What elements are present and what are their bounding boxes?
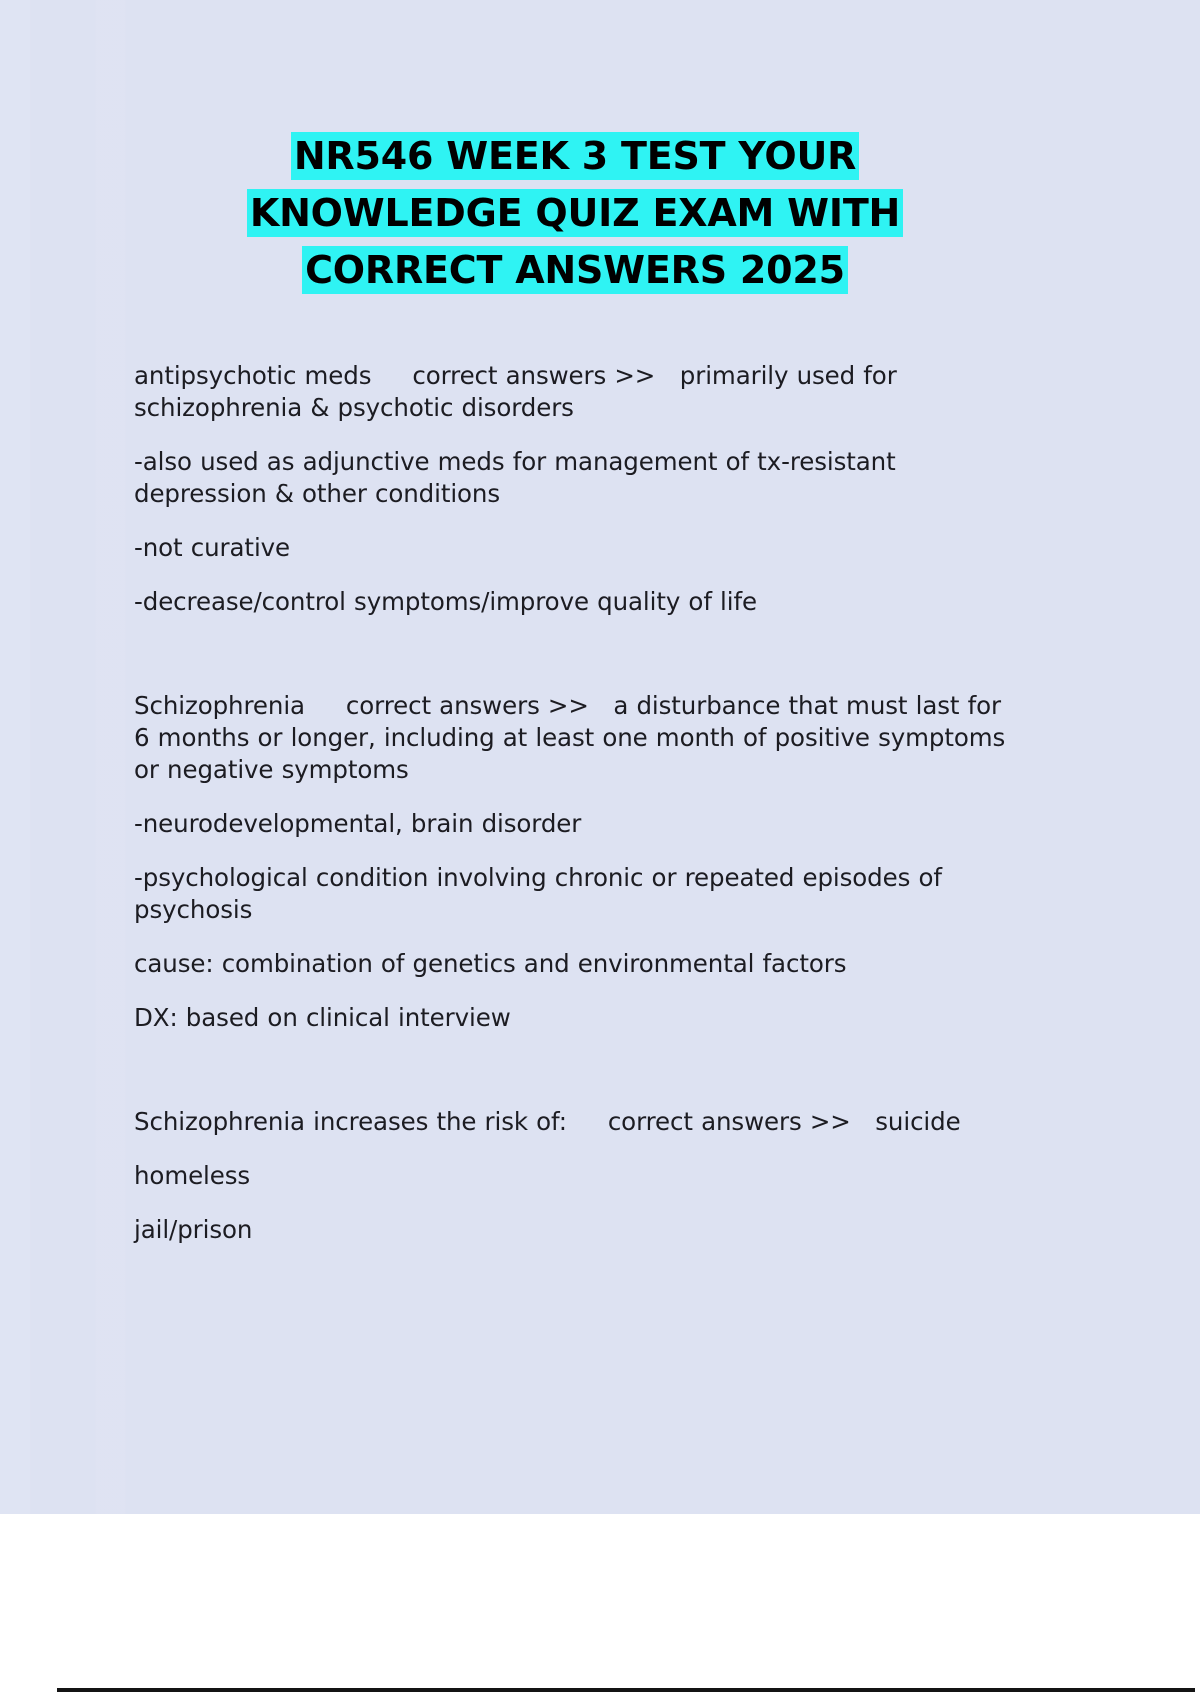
- qa-pair-schizophrenia-risks: Schizophrenia increases the risk of: cor…: [134, 1106, 1014, 1138]
- qa-term: Schizophrenia increases the risk of:: [134, 1107, 567, 1136]
- detail-line: -neurodevelopmental, brain disorder: [134, 808, 1014, 840]
- title-line-3: CORRECT ANSWERS 2025: [302, 246, 848, 294]
- qa-answer: suicide: [875, 1107, 960, 1136]
- qa-pair-schizophrenia: Schizophrenia correct answers >> a distu…: [134, 690, 1014, 786]
- qa-separator-label: correct answers >>: [346, 691, 589, 720]
- detail-line: -psychological condition involving chron…: [134, 862, 1014, 926]
- title-line-2: KNOWLEDGE QUIZ EXAM WITH: [247, 189, 903, 237]
- qa-term: Schizophrenia: [134, 691, 305, 720]
- block-spacer: [134, 1056, 1014, 1106]
- page-footer-area: [0, 1514, 1200, 1700]
- document-viewer: NR546 WEEK 3 TEST YOUR KNOWLEDGE QUIZ EX…: [0, 0, 1200, 1700]
- qa-separator: [371, 361, 412, 390]
- page-title: NR546 WEEK 3 TEST YOUR KNOWLEDGE QUIZ EX…: [130, 128, 1020, 299]
- qa-term: antipsychotic meds: [134, 361, 371, 390]
- detail-line: jail/prison: [134, 1214, 1014, 1246]
- quiz-content: antipsychotic meds correct answers >> pr…: [134, 360, 1014, 1268]
- detail-line: -also used as adjunctive meds for manage…: [134, 446, 1014, 510]
- detail-line: homeless: [134, 1160, 1014, 1192]
- qa-separator-label: correct answers >>: [608, 1107, 851, 1136]
- detail-line: cause: combination of genetics and envir…: [134, 948, 1014, 980]
- qa-pair-antipsychotic-meds: antipsychotic meds correct answers >> pr…: [134, 360, 1014, 424]
- footer-divider: [57, 1688, 1195, 1692]
- detail-line: DX: based on clinical interview: [134, 1002, 1014, 1034]
- detail-line: -not curative: [134, 532, 1014, 564]
- detail-line: -decrease/control symptoms/improve quali…: [134, 586, 1014, 618]
- document-page: NR546 WEEK 3 TEST YOUR KNOWLEDGE QUIZ EX…: [0, 0, 1200, 1514]
- qa-separator: [305, 691, 346, 720]
- title-line-1: NR546 WEEK 3 TEST YOUR: [291, 132, 859, 180]
- qa-separator: [567, 1107, 608, 1136]
- qa-separator-label: correct answers >>: [412, 361, 655, 390]
- block-spacer: [134, 640, 1014, 690]
